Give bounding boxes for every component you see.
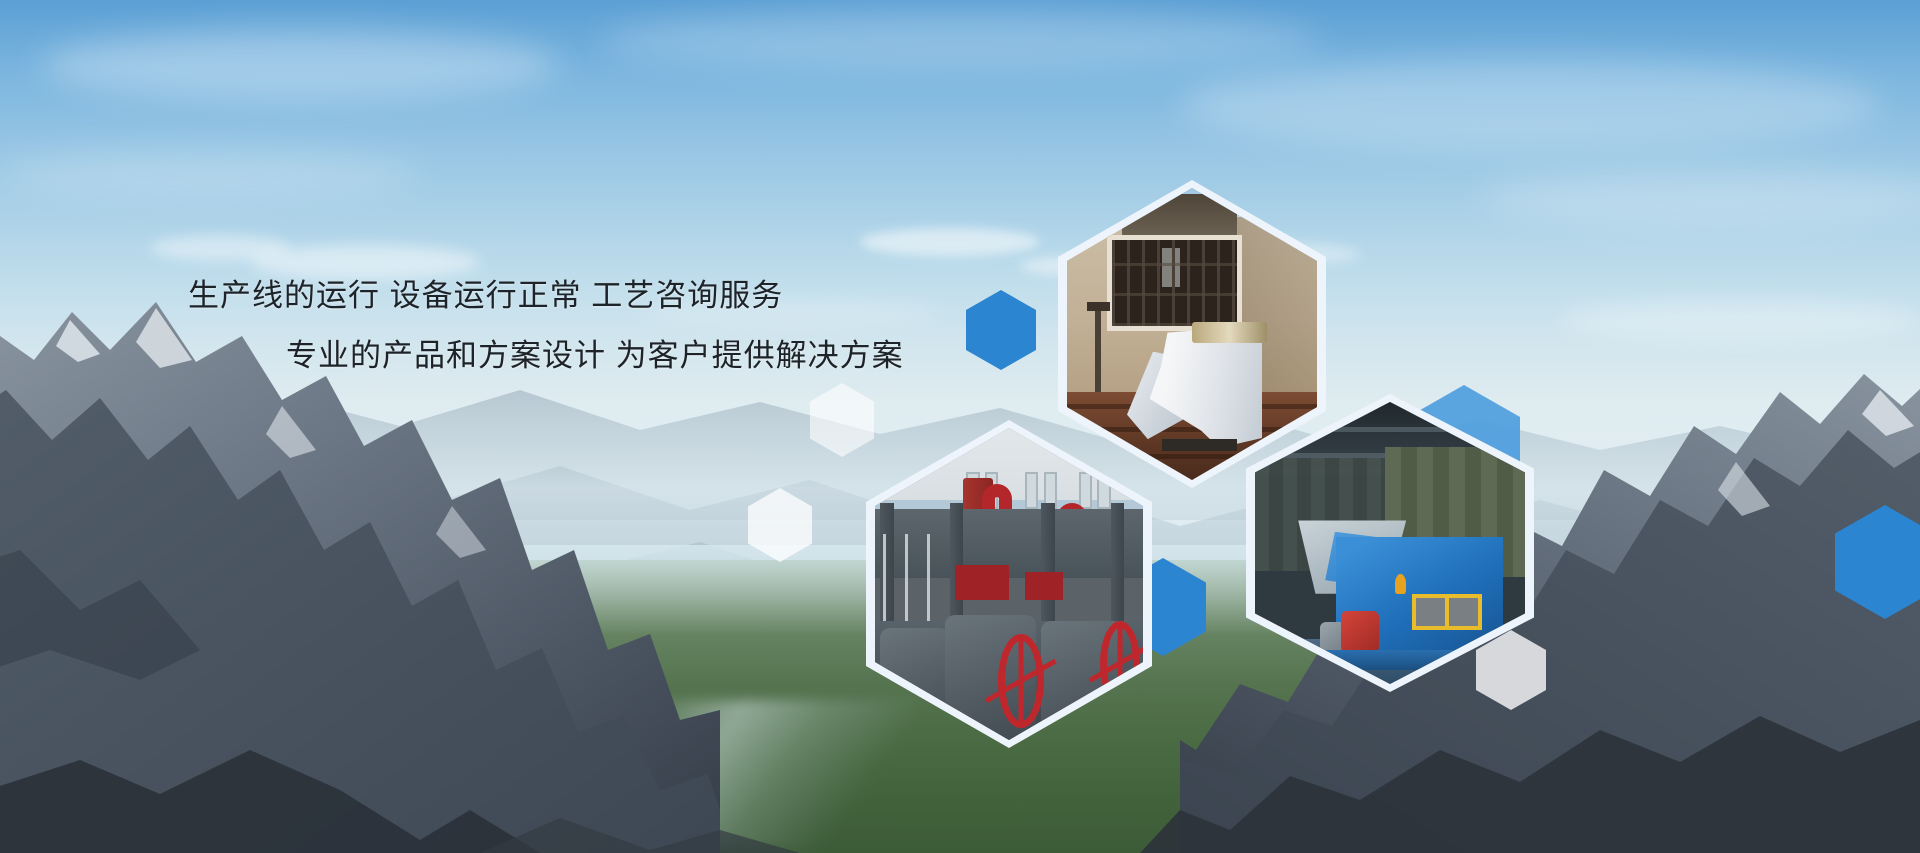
hex-photo-ladle-inner bbox=[1067, 188, 1317, 480]
hex-photo-blue-machine-inner bbox=[1255, 402, 1525, 684]
hex-photo-grey-machinery[interactable] bbox=[866, 420, 1152, 748]
deco-hex-blue-corner bbox=[1835, 505, 1920, 619]
deco-hex-white-upper bbox=[810, 383, 874, 457]
headline-block: 生产线的运行 设备运行正常 工艺咨询服务 专业的产品和方案设计 为客户提供解决方… bbox=[188, 266, 1048, 386]
photo-blue-shredder-machine bbox=[1255, 402, 1525, 684]
hex-photo-ladle[interactable] bbox=[1058, 180, 1326, 488]
headline-line-1: 生产线的运行 设备运行正常 工艺咨询服务 bbox=[188, 266, 1048, 326]
deco-hex-white-lower bbox=[748, 488, 812, 562]
photo-white-ladle-machine bbox=[1067, 188, 1317, 480]
hex-photo-grey-machinery-inner bbox=[875, 428, 1143, 740]
hexagon-collage bbox=[0, 0, 1920, 853]
headline-line-2: 专业的产品和方案设计 为客户提供解决方案 bbox=[188, 326, 1048, 386]
photo-grey-production-line bbox=[875, 428, 1143, 740]
hero-banner: 生产线的运行 设备运行正常 工艺咨询服务 专业的产品和方案设计 为客户提供解决方… bbox=[0, 0, 1920, 853]
